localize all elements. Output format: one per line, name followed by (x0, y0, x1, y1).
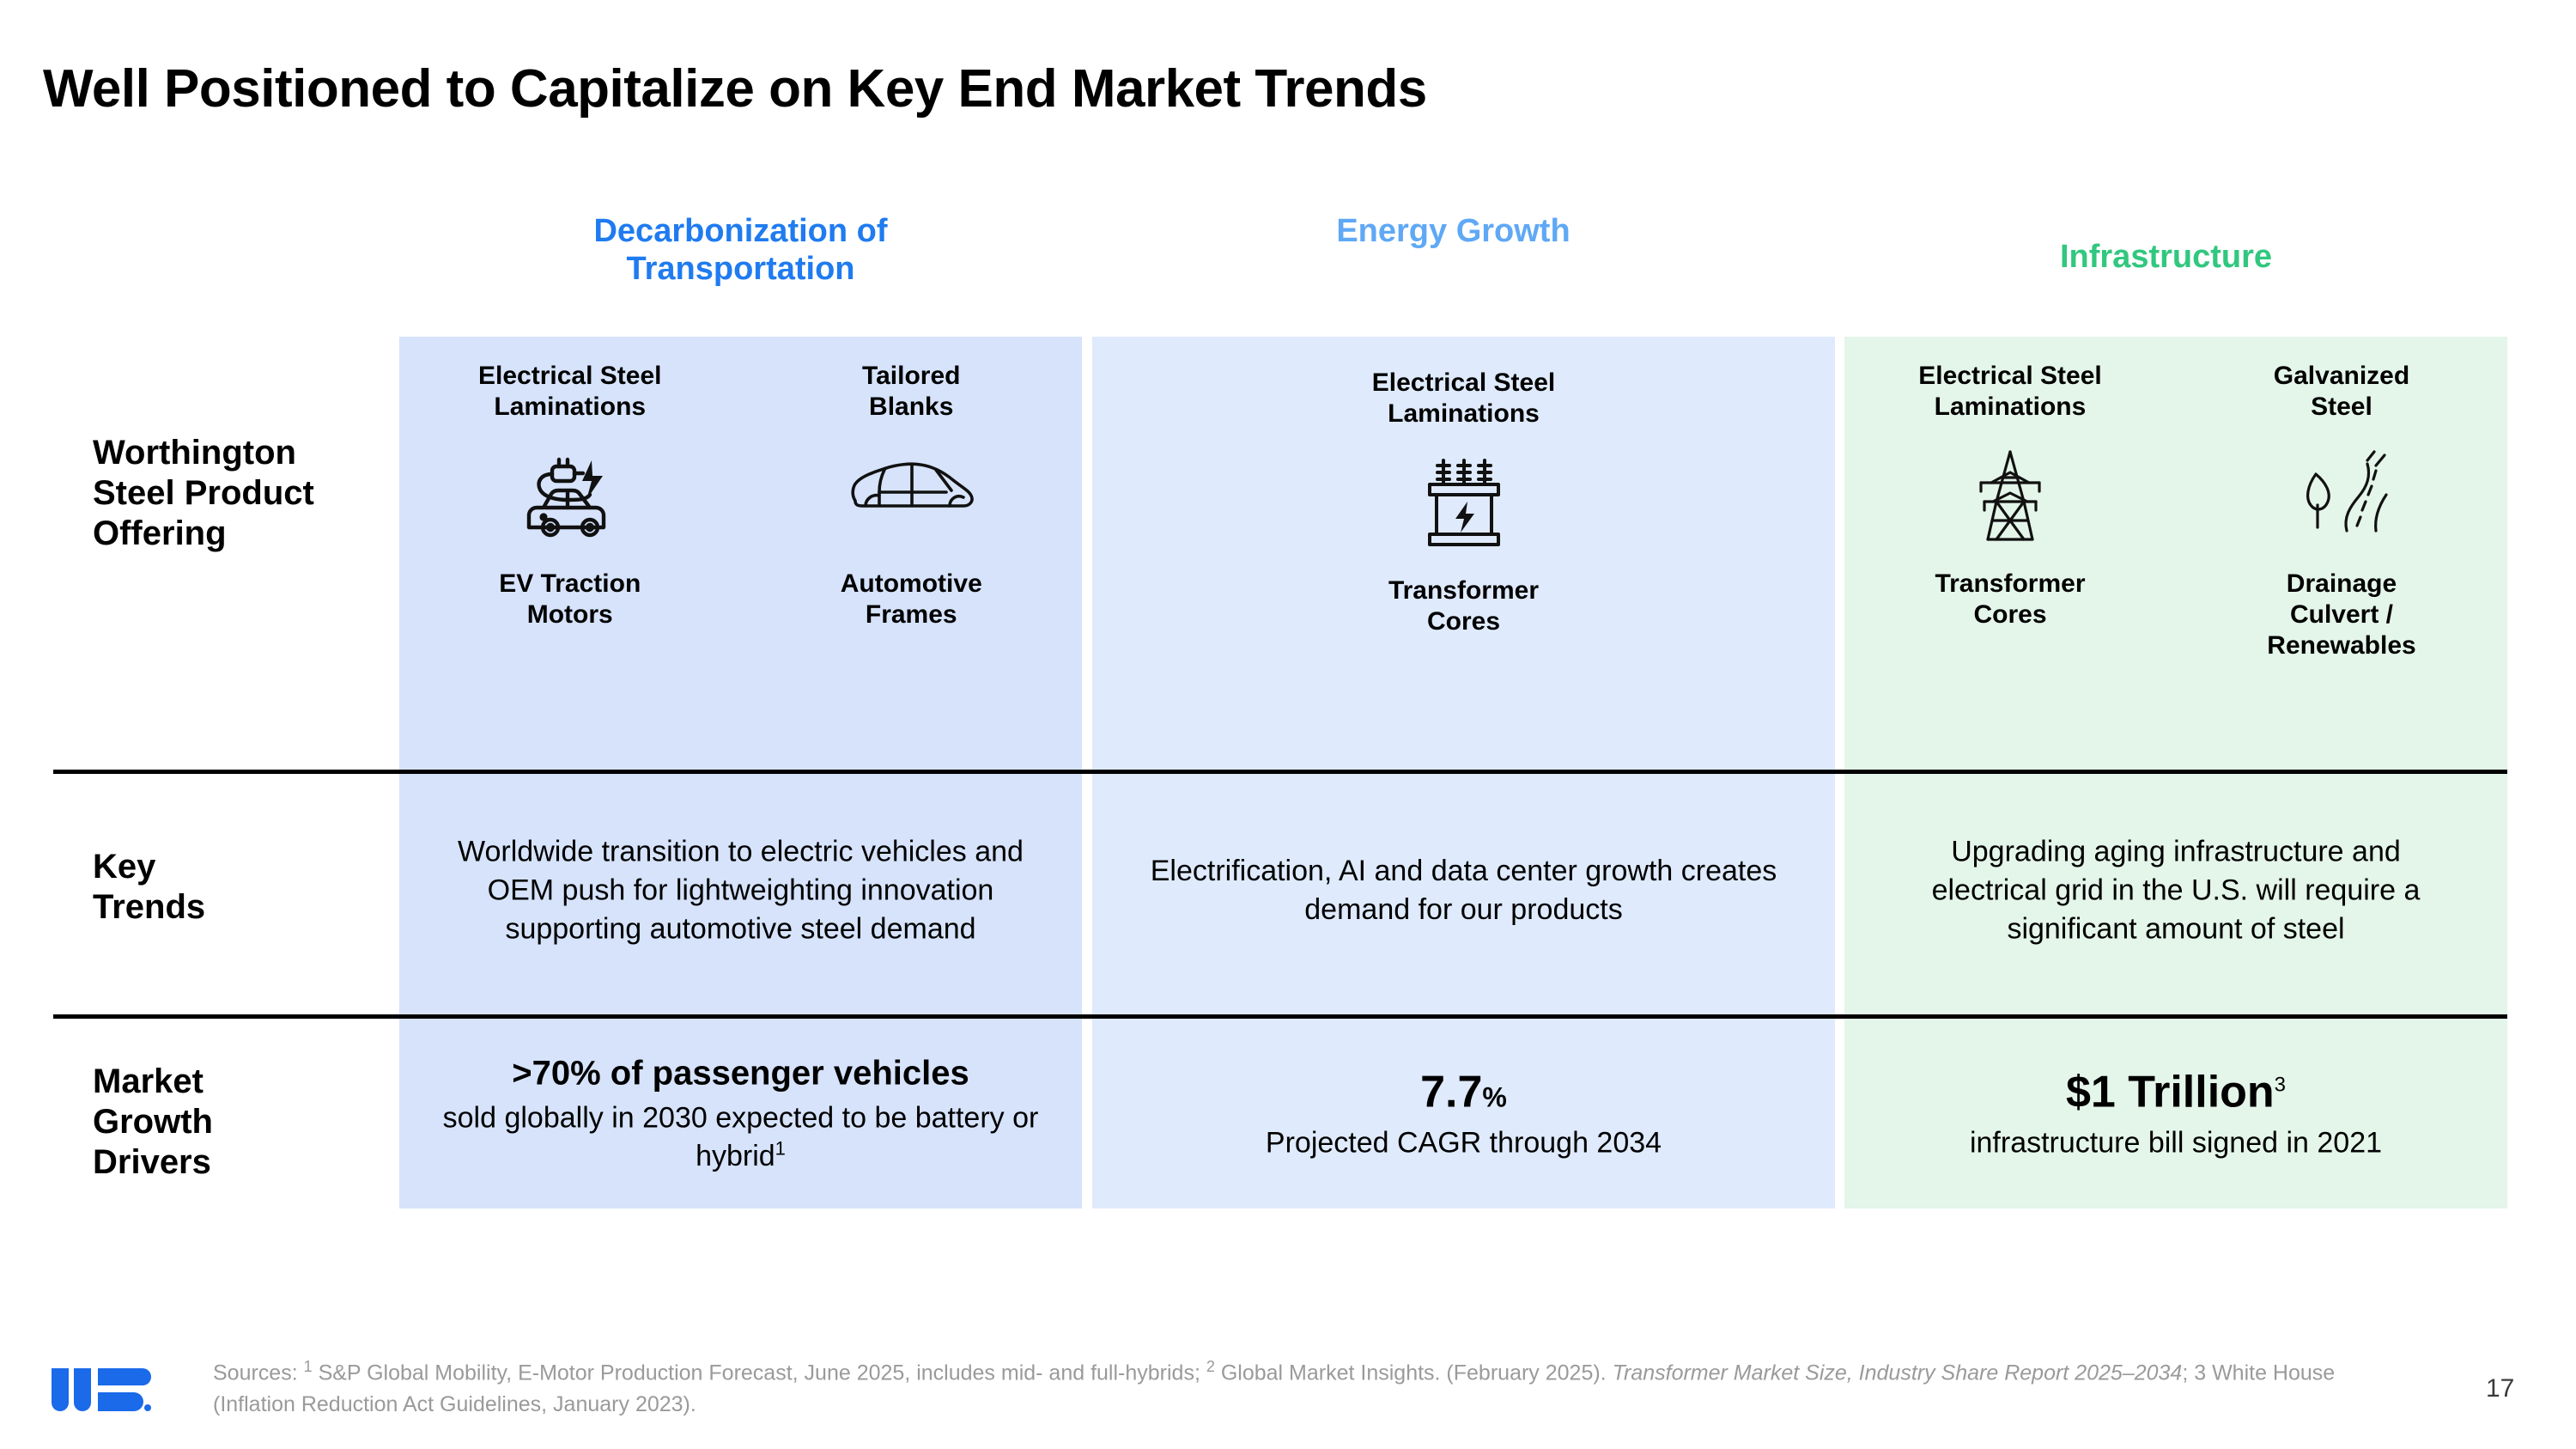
product-top-label: Galvanized Steel (2274, 361, 2409, 423)
car-body-frame-icon (847, 436, 975, 539)
cell-drivers-infrastructure: $1 Trillion3 infrastructure bill signed … (1844, 1019, 2507, 1209)
product-bottom-label: Automotive Frames (841, 569, 982, 630)
column-header-line1: Infrastructure (1825, 239, 2507, 277)
cell-product-energy: Electrical Steel Laminations (1092, 337, 1835, 737)
row-label-line: Drivers (93, 1142, 385, 1183)
row-label-market-growth-drivers: Market Growth Drivers (93, 1062, 385, 1184)
product-top-label: Tailored Blanks (862, 361, 960, 423)
footnote-report-title-part1: Transformer Market Size, Industry Share (1613, 1361, 1999, 1385)
product-top-label: Electrical Steel Laminations (478, 361, 661, 423)
driver-subtext: sold globally in 2030 expected to be bat… (427, 1099, 1054, 1175)
row-label-line: Offering (93, 514, 385, 554)
product-item: Electrical Steel Laminations (406, 337, 734, 630)
trend-text: Electrification, AI and data center grow… (1122, 852, 1806, 929)
row-label-line: Key (93, 847, 385, 887)
column-header-infrastructure: Infrastructure (1825, 239, 2507, 277)
row-key-trends: Key Trends Worldwide transition to elect… (0, 774, 2576, 1008)
driver-headline-unit: % (1482, 1081, 1506, 1112)
cell-trends-decarbonization: Worldwide transition to electric vehicle… (399, 774, 1082, 1008)
ev-car-charging-icon (519, 445, 621, 548)
column-header-energy: Energy Growth (1082, 213, 1825, 251)
product-top-label: Electrical Steel Laminations (1918, 361, 2101, 423)
cell-product-infrastructure: Electrical Steel Laminations (1844, 337, 2507, 737)
row-label-product-offering: Worthington Steel Product Offering (93, 433, 385, 555)
column-header-decarbonization: Decarbonization of Transportation (399, 213, 1082, 288)
driver-headline-value: $1 Trillion (2066, 1067, 2275, 1117)
product-bottom-label: Drainage Culvert / Renewables (2267, 569, 2415, 661)
product-bottom-label: EV Traction Motors (499, 569, 641, 630)
driver-subtext: infrastructure bill signed in 2021 (1871, 1124, 2481, 1162)
product-item: Electrical Steel Laminations (1851, 337, 2170, 630)
footnote-marker-2: 2 (1206, 1358, 1215, 1375)
cell-trends-infrastructure: Upgrading aging infrastructure and elect… (1844, 774, 2507, 1008)
sources-footnote: Sources: 1 S&P Global Mobility, E-Motor … (213, 1355, 2411, 1420)
driver-headline-value: 7.7 (1420, 1067, 1482, 1117)
cell-trends-energy: Electrification, AI and data center grow… (1092, 774, 1835, 1008)
row-label-line: Worthington (93, 433, 385, 473)
row-label-line: Growth (93, 1102, 385, 1142)
page-title: Well Positioned to Capitalize on Key End… (43, 58, 1427, 119)
row-product-offering: Worthington Steel Product Offering Elect… (0, 337, 2576, 737)
footnote-report-title-part2: Report 2025–2034 (2004, 1361, 2182, 1385)
row-label-key-trends: Key Trends (93, 847, 385, 928)
transmission-tower-icon (1962, 445, 2058, 548)
row-market-growth-drivers: Market Growth Drivers >70% of passenger … (0, 1019, 2576, 1209)
product-item: Galvanized Steel (2183, 337, 2501, 661)
column-header-line2: Transportation (399, 251, 1082, 289)
product-item: Tailored Blanks (747, 337, 1075, 630)
footnote-sources-label: Sources: (213, 1361, 304, 1385)
footnote-source-1: S&P Global Mobility, E-Motor Production … (313, 1361, 1206, 1385)
driver-subtext-text: sold globally in 2030 expected to be bat… (443, 1101, 1039, 1172)
page-number: 17 (2486, 1374, 2514, 1403)
footnote-source-2: Global Market Insights. (February 2025). (1215, 1361, 1613, 1385)
driver-headline: $1 Trillion3 (1871, 1065, 2481, 1118)
product-bottom-label: Transformer Cores (1935, 569, 2085, 630)
footnote-marker: 3 (2275, 1073, 2286, 1096)
trend-text: Upgrading aging infrastructure and elect… (1891, 833, 2461, 949)
worthington-steel-ws-logo (50, 1367, 153, 1423)
drainage-water-road-icon (2293, 445, 2390, 548)
transformer-icon (1423, 452, 1505, 555)
footnote-marker: 1 (775, 1137, 786, 1159)
footnote-marker-1: 1 (304, 1358, 313, 1375)
cell-product-decarbonization: Electrical Steel Laminations (399, 337, 1082, 737)
product-bottom-label: Transformer Cores (1388, 575, 1539, 637)
row-label-line: Market (93, 1062, 385, 1102)
cell-drivers-energy: 7.7% Projected CAGR through 2034 (1092, 1019, 1835, 1209)
column-header-line1: Energy Growth (1082, 213, 1825, 251)
cell-drivers-decarbonization: >70% of passenger vehicles sold globally… (399, 1019, 1082, 1209)
trend-text: Worldwide transition to electric vehicle… (447, 833, 1035, 949)
column-headers: Decarbonization of Transportation Energy… (399, 213, 2507, 316)
driver-headline: >70% of passenger vehicles (427, 1052, 1054, 1093)
driver-headline: 7.7% (1122, 1065, 1806, 1118)
driver-subtext: Projected CAGR through 2034 (1122, 1124, 1806, 1162)
row-label-line: Steel Product (93, 473, 385, 514)
product-item: Electrical Steel Laminations (1092, 337, 1835, 637)
column-header-line1: Decarbonization of (399, 213, 1082, 251)
row-label-line: Trends (93, 887, 385, 928)
product-top-label: Electrical Steel Laminations (1372, 368, 1555, 429)
